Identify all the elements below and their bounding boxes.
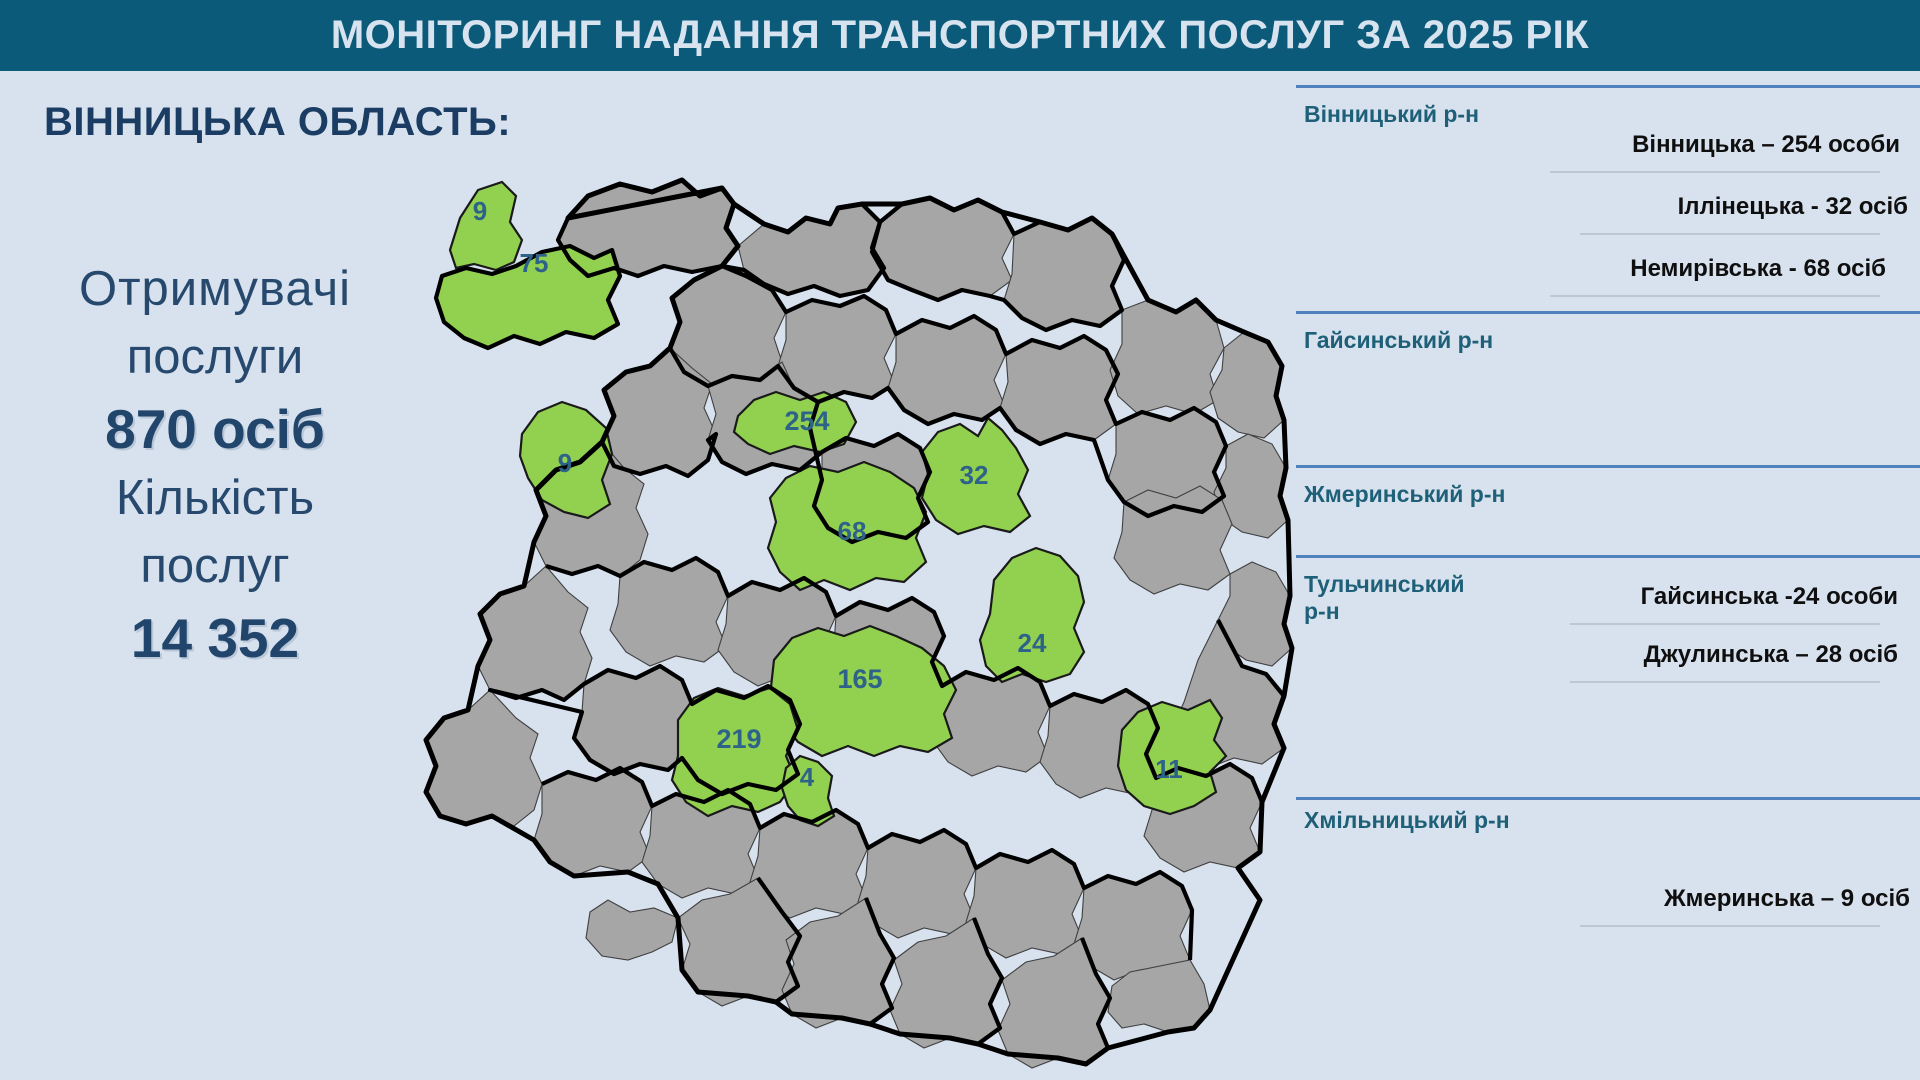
map-region-24 — [980, 548, 1084, 682]
recipients-label-line1: Отримувачі — [0, 261, 430, 317]
rayon-name[interactable]: Жмеринський р-н — [1304, 481, 1505, 508]
hromada-divider — [1570, 623, 1880, 625]
map-label-165: 165 — [837, 664, 882, 694]
map-label-32: 32 — [960, 460, 989, 490]
map-label-75: 75 — [520, 248, 549, 278]
rayon-name[interactable]: Гайсинський р-н — [1304, 327, 1493, 354]
rayon-name[interactable]: Хмільницький р-н — [1304, 807, 1510, 834]
vinnytsia-oblast-map: 9752549326824165219411 — [382, 100, 1322, 1080]
map-label-219: 219 — [716, 724, 761, 754]
map-label-254: 254 — [784, 406, 829, 436]
hromada-item[interactable]: Немирівська - 68 осіб — [1326, 255, 1910, 283]
hromada-divider — [1580, 233, 1880, 235]
hromada-divider — [1550, 295, 1880, 297]
left-summary-panel: ВІННИЦЬКА ОБЛАСТЬ: Отримувачі послуги 87… — [0, 71, 430, 1080]
rayon-divider — [1296, 465, 1920, 468]
hromada-divider — [1580, 925, 1880, 927]
rayon-divider — [1296, 311, 1920, 314]
map-label-4: 4 — [800, 762, 815, 792]
hromada-item[interactable]: Іллінецька - 32 осіб — [1348, 193, 1910, 221]
rayon-name[interactable]: Вінницький р-н — [1304, 101, 1479, 128]
map-label-24: 24 — [1018, 628, 1047, 658]
rayon-list-panel: Вінницький р-нВінницька – 254 особиІллін… — [1296, 71, 1920, 1080]
hromada-item[interactable]: Вінницька – 254 особи — [1340, 131, 1910, 159]
infographic-page: МОНІТОРИНГ НАДАННЯ ТРАНСПОРТНИХ ПОСЛУГ З… — [0, 0, 1920, 1080]
map-label-68: 68 — [838, 516, 867, 546]
rayon-divider — [1296, 555, 1920, 558]
map-label-9: 9 — [558, 448, 572, 478]
rayon-divider — [1296, 85, 1920, 88]
services-label-line1: Кількість — [0, 470, 430, 526]
recipients-label-line2: послуги — [0, 329, 430, 385]
hromada-divider — [1570, 681, 1880, 683]
map-label-9: 9 — [473, 196, 487, 226]
hromada-divider — [1550, 171, 1880, 173]
services-value: 14 352 — [0, 606, 430, 670]
hromada-item[interactable]: Джулинська – 28 осіб — [1338, 641, 1910, 669]
services-label-line2: послуг — [0, 538, 430, 594]
hromada-item[interactable]: Жмеринська – 9 осіб — [1350, 885, 1910, 913]
page-title: МОНІТОРИНГ НАДАННЯ ТРАНСПОРТНИХ ПОСЛУГ З… — [0, 0, 1920, 71]
map-label-11: 11 — [1155, 754, 1183, 784]
recipients-value: 870 осіб — [0, 397, 430, 461]
rayon-name[interactable]: Тульчинський р-н — [1304, 571, 1504, 625]
rayon-divider — [1296, 797, 1920, 800]
